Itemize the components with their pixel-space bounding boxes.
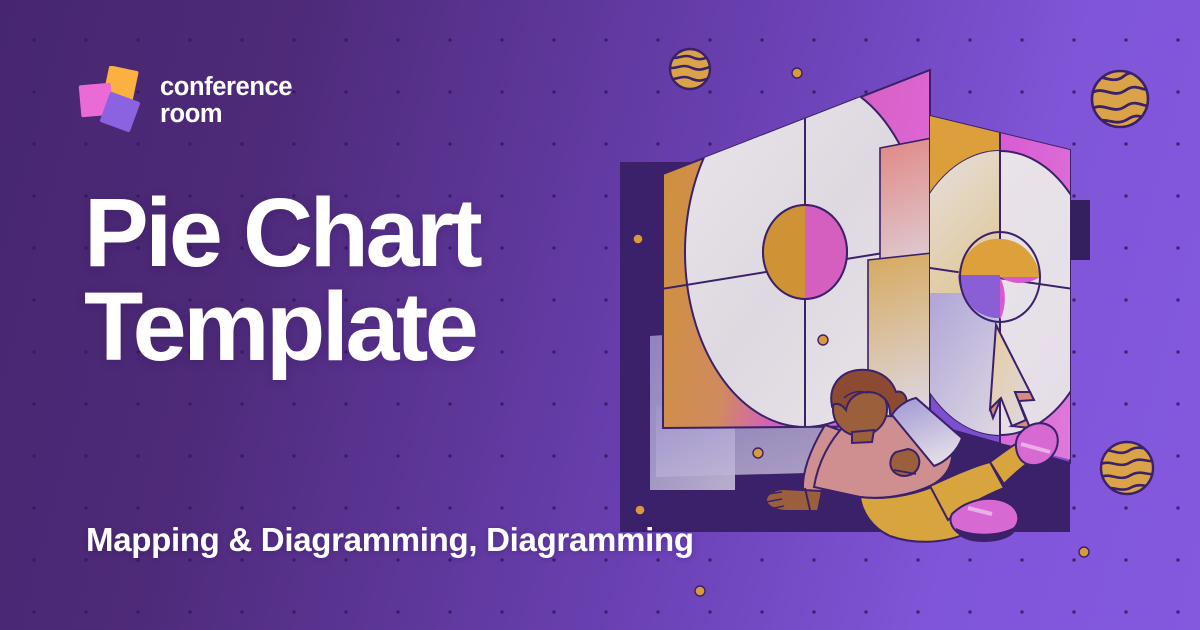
page-title-line2: Template [84, 280, 479, 374]
sphere-large-top-right-icon [1090, 71, 1154, 127]
brand-logo[interactable]: conference room [78, 66, 292, 136]
page-title-line1: Pie Chart [84, 178, 479, 287]
page-title: Pie Chart Template [84, 186, 479, 374]
logo-mark-icon [78, 66, 146, 136]
logo-wordmark-line1: conference [160, 74, 292, 101]
page-subtitle: Mapping & Diagramming, Diagramming [86, 521, 694, 559]
sphere-bottom-right-icon [1099, 442, 1157, 494]
promo-banner: conference room Pie Chart Template Mappi… [0, 0, 1200, 630]
sphere-small-top-left-icon [666, 49, 716, 89]
logo-wordmark: conference room [160, 74, 292, 128]
logo-wordmark-line2: room [160, 101, 292, 128]
